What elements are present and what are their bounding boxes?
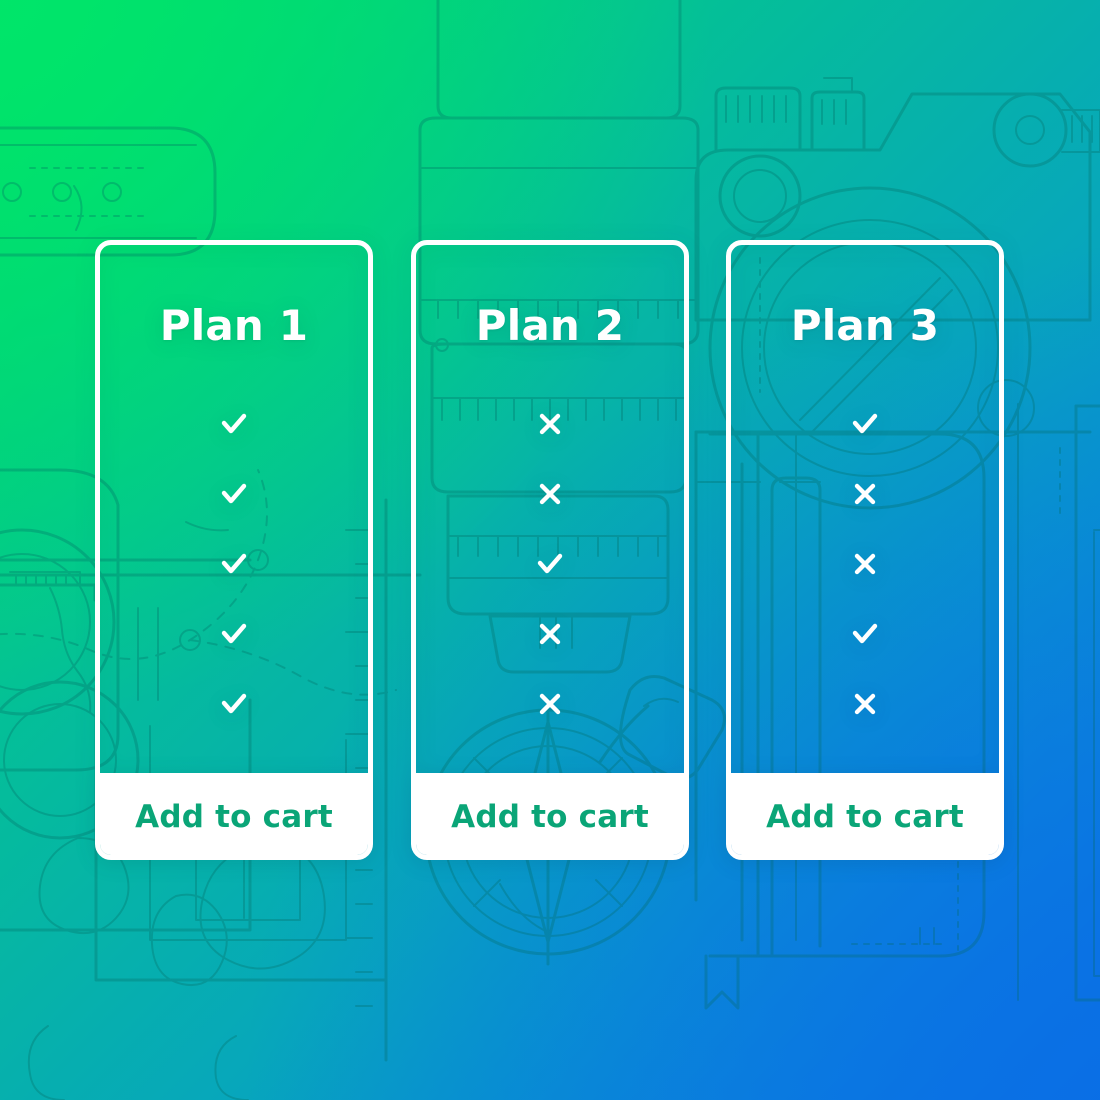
check-icon <box>217 547 251 581</box>
check-icon <box>217 477 251 511</box>
feature-row <box>731 599 999 669</box>
plan-card-list: Plan 1 <box>0 0 1100 1100</box>
plan-card-3-feature-list <box>731 389 999 739</box>
feature-row <box>416 389 684 459</box>
cross-icon <box>533 687 567 721</box>
pricing-plans-screen: Plan 1 <box>0 0 1100 1100</box>
plan-card-2[interactable]: Plan 2 <box>411 240 689 860</box>
plan-card-2-feature-list <box>416 389 684 739</box>
plan-card-1[interactable]: Plan 1 <box>95 240 373 860</box>
cross-icon <box>533 477 567 511</box>
plan-card-3[interactable]: Plan 3 <box>726 240 1004 860</box>
feature-row <box>731 529 999 599</box>
feature-row <box>100 599 368 669</box>
feature-row <box>731 669 999 739</box>
cross-icon <box>848 687 882 721</box>
plan-card-1-feature-list <box>100 389 368 739</box>
plan-card-2-body: Plan 2 <box>416 245 684 773</box>
check-icon <box>848 617 882 651</box>
cross-icon <box>848 547 882 581</box>
plan-card-1-body: Plan 1 <box>100 245 368 773</box>
feature-row <box>100 669 368 739</box>
plan-card-2-title: Plan 2 <box>476 305 624 347</box>
feature-row <box>416 599 684 669</box>
add-to-cart-button-plan-3[interactable]: Add to cart <box>726 773 1004 860</box>
check-icon <box>217 407 251 441</box>
feature-row <box>416 529 684 599</box>
add-to-cart-button-plan-1[interactable]: Add to cart <box>95 773 373 860</box>
plan-card-1-title: Plan 1 <box>160 305 308 347</box>
add-to-cart-button-plan-2[interactable]: Add to cart <box>411 773 689 860</box>
check-icon <box>217 687 251 721</box>
check-icon <box>217 617 251 651</box>
cross-icon <box>533 617 567 651</box>
feature-row <box>100 529 368 599</box>
feature-row <box>416 669 684 739</box>
feature-row <box>100 459 368 529</box>
check-icon <box>848 407 882 441</box>
plan-card-3-title: Plan 3 <box>791 305 939 347</box>
cross-icon <box>848 477 882 511</box>
plan-card-3-body: Plan 3 <box>731 245 999 773</box>
feature-row <box>731 459 999 529</box>
check-icon <box>533 547 567 581</box>
cross-icon <box>533 407 567 441</box>
feature-row <box>416 459 684 529</box>
feature-row <box>100 389 368 459</box>
feature-row <box>731 389 999 459</box>
